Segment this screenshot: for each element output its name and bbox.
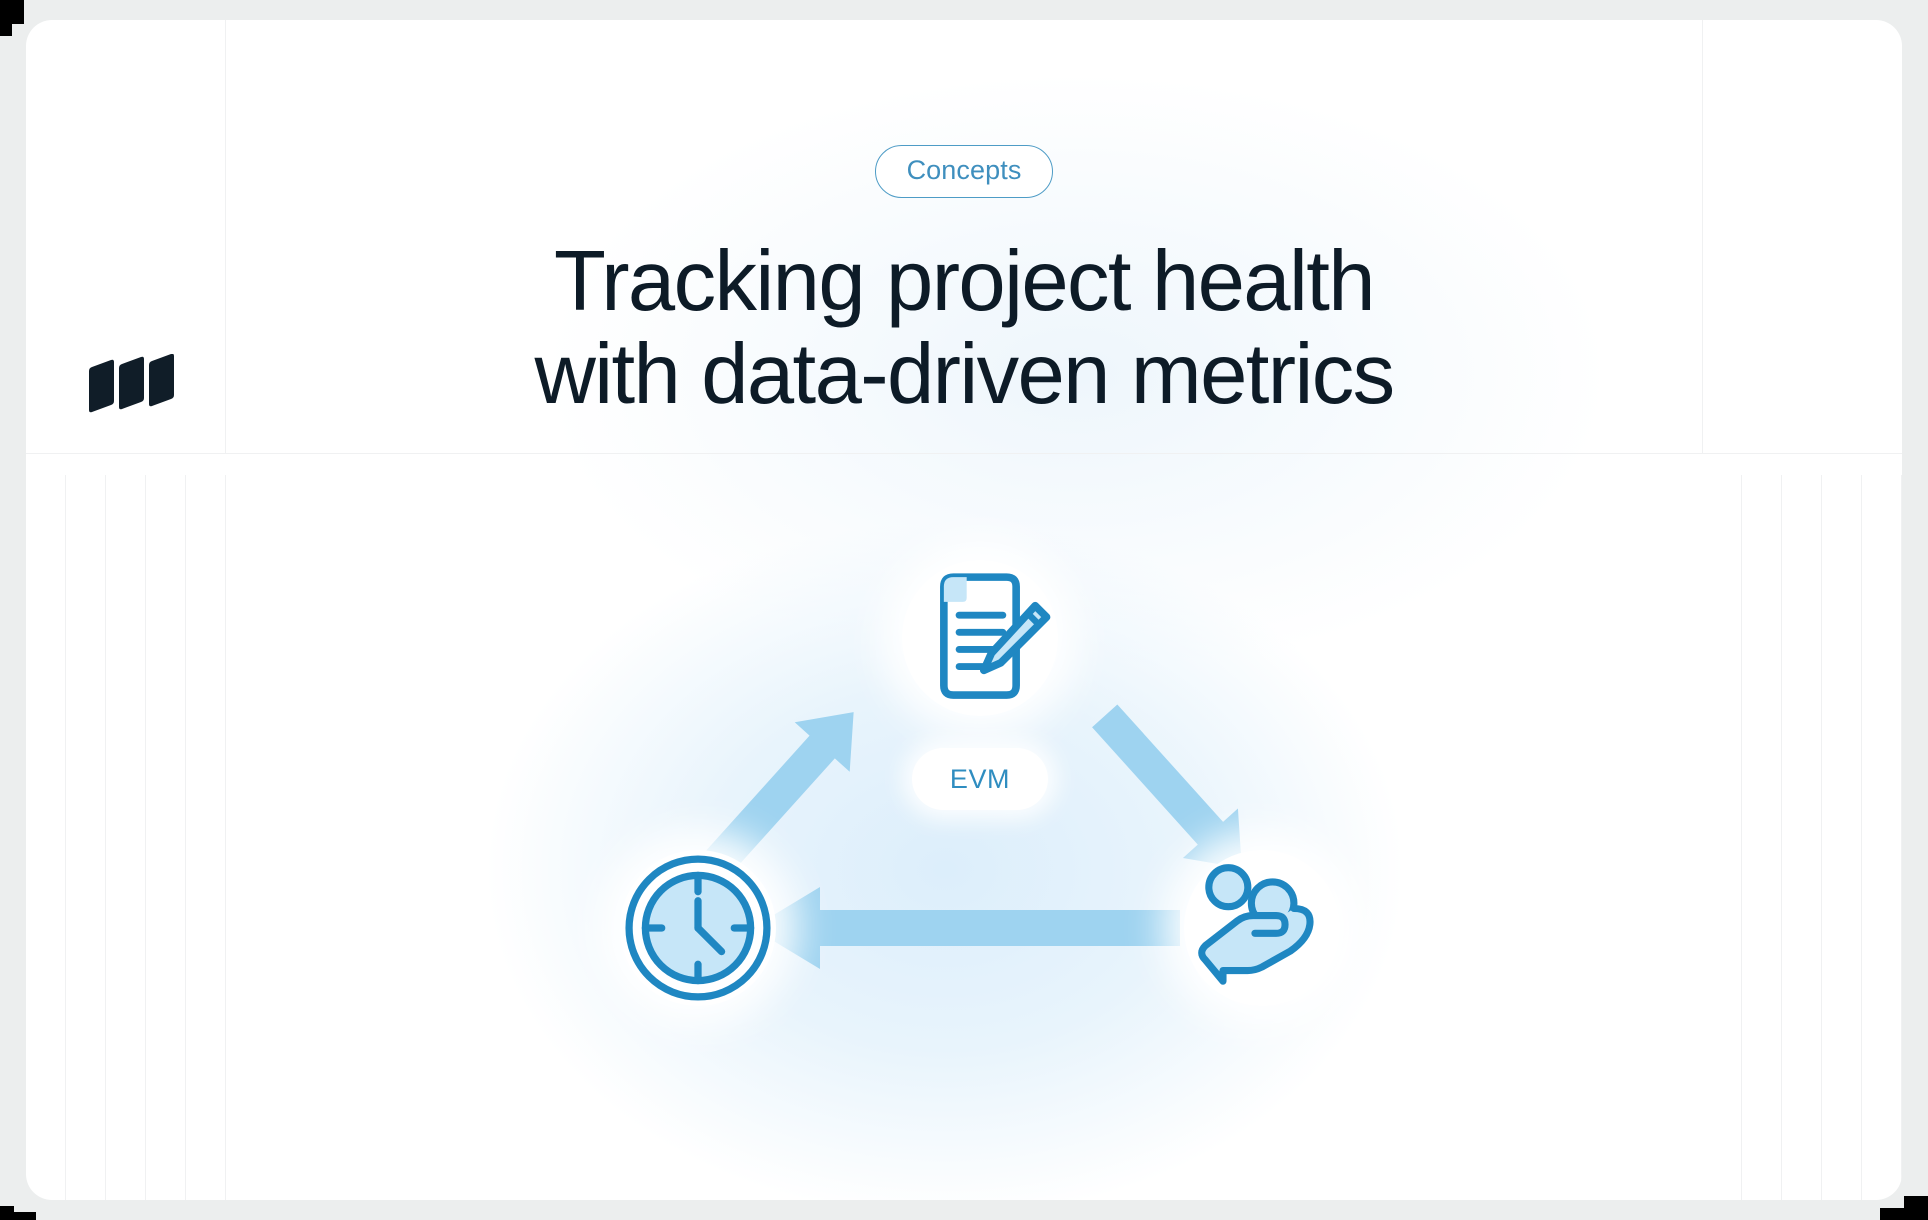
evm-cycle-diagram: EVM: [620, 560, 1340, 1030]
slide-card: Concepts Tracking project health with da…: [26, 20, 1902, 1200]
node-cost[interactable]: [1184, 850, 1340, 1006]
arrow-cost-to-time: [752, 887, 1180, 969]
page-title: Tracking project health with data-driven…: [534, 236, 1393, 421]
evm-center-label: EVM: [912, 748, 1048, 810]
left-margin-rail: [26, 475, 226, 1200]
right-column-divider: [1702, 20, 1703, 453]
corner-mark-bottom-right: [1904, 1196, 1928, 1220]
corner-mark-top-left-tail: [0, 24, 12, 36]
clock-icon: [620, 693, 776, 1163]
corner-mark-top-left: [0, 0, 24, 24]
corner-mark-bottom-left-tail: [14, 1212, 36, 1220]
stacked-slabs-logo: [78, 354, 174, 416]
node-plan[interactable]: [902, 560, 1058, 716]
corner-mark-bottom-right-tail: [1880, 1208, 1904, 1220]
hand-holding-person-icon: [1184, 693, 1340, 1163]
node-time[interactable]: [620, 850, 776, 1006]
corner-mark-bottom-left: [0, 1206, 14, 1220]
right-margin-rail: [1702, 475, 1902, 1200]
page-title-line-1: Tracking project health: [534, 236, 1393, 329]
category-badge[interactable]: Concepts: [875, 145, 1054, 198]
header-block: Concepts Tracking project health with da…: [226, 20, 1702, 453]
slide-viewport: Concepts Tracking project health with da…: [0, 0, 1928, 1220]
